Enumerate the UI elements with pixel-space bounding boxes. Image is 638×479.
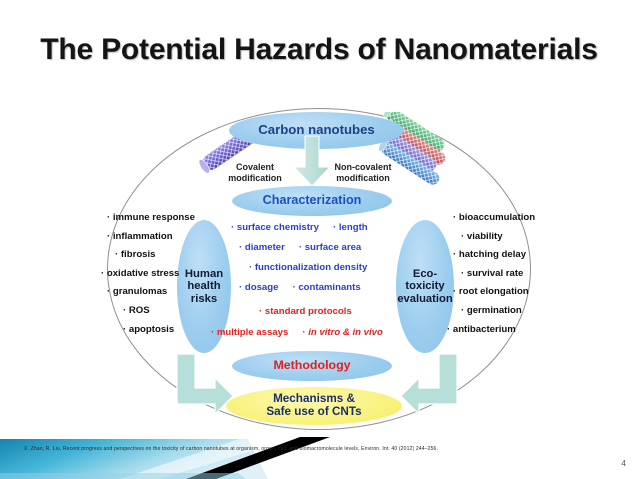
node-mechanisms-safe-use[interactable]: Mechanisms & Safe use of CNTs <box>226 387 402 425</box>
list-item: · root elongation <box>447 286 539 297</box>
list-item: · bioaccumulation <box>447 212 539 223</box>
outcome-line1: Mechanisms & <box>273 392 355 405</box>
covalent-line2: modification <box>228 173 282 183</box>
hhr-line2: health <box>187 280 220 292</box>
human-health-risk-list: · immune response· inflammation· fibrosi… <box>101 212 185 342</box>
noncovalent-line2: modification <box>336 173 390 183</box>
methodology-item: · standard protocols <box>259 306 352 317</box>
property-item: · length <box>333 222 368 233</box>
property-item: · diameter <box>239 242 285 253</box>
eco-line1: Eco- <box>413 268 437 280</box>
methodology-item: · multiple assays <box>211 327 288 338</box>
table-row: · multiple assays· in vitro & in vivo <box>211 327 423 338</box>
list-item: · granulomas <box>101 286 185 297</box>
list-item: · germination <box>447 305 539 316</box>
node-methodology[interactable]: Methodology <box>232 351 392 381</box>
nanomaterial-hazards-diagram: Carbon nanotubes Covalent modification N… <box>99 100 541 440</box>
list-item: · ROS <box>101 305 185 316</box>
property-item: · contaminants <box>292 282 360 293</box>
covalent-line1: Covalent <box>236 162 274 172</box>
citation-text: X. Zhao, R. Liu, Recent progress and per… <box>24 446 584 452</box>
list-item: · antibacterium <box>447 324 539 335</box>
list-item: · oxidative stress <box>101 268 185 279</box>
property-item: · functionalization density <box>249 262 367 273</box>
slide-canvas: The Potential Hazards of Nanomaterials <box>0 0 638 479</box>
page-title: The Potential Hazards of Nanomaterials <box>0 33 638 67</box>
table-row: · surface chemistry· length <box>227 222 407 233</box>
node-characterization[interactable]: Characterization <box>232 186 392 216</box>
outcome-line2: Safe use of CNTs <box>266 405 361 418</box>
elbow-arrow-left-icon <box>171 352 235 418</box>
list-item: · fibrosis <box>101 249 185 260</box>
table-row: · functionalization density <box>227 262 407 273</box>
list-item: · immune response <box>101 212 185 223</box>
methodology-item-list: · standard protocols· multiple assays· i… <box>211 306 423 348</box>
list-item: · hatching delay <box>447 249 539 260</box>
characterization-property-list: · surface chemistry· length· diameter· s… <box>227 222 407 302</box>
hhr-line1: Human <box>185 268 223 280</box>
list-item: · apoptosis <box>101 324 185 335</box>
list-item: · viability <box>447 231 539 242</box>
property-item: · surface area <box>299 242 361 253</box>
footer-banner <box>0 435 638 479</box>
label-noncovalent-modification: Non-covalent modification <box>313 162 413 185</box>
elbow-arrow-right-icon <box>399 352 463 418</box>
table-row: · dosage· contaminants <box>227 282 407 293</box>
methodology-item: · in vitro & in vivo <box>302 327 383 338</box>
list-item: · inflammation <box>101 231 185 242</box>
page-number: 4 <box>621 458 626 468</box>
list-item: · survival rate <box>447 268 539 279</box>
eco-line2: toxicity <box>405 280 444 292</box>
property-item: · surface chemistry <box>231 222 319 233</box>
noncovalent-line1: Non-covalent <box>334 162 391 172</box>
table-row: · diameter· surface area <box>227 242 407 253</box>
label-covalent-modification: Covalent modification <box>211 162 299 185</box>
ecotoxicity-endpoint-list: · bioaccumulation· viability· hatching d… <box>447 212 539 342</box>
hhr-line3: risks <box>191 293 217 305</box>
table-row: · standard protocols <box>211 306 423 317</box>
property-item: · dosage <box>239 282 278 293</box>
